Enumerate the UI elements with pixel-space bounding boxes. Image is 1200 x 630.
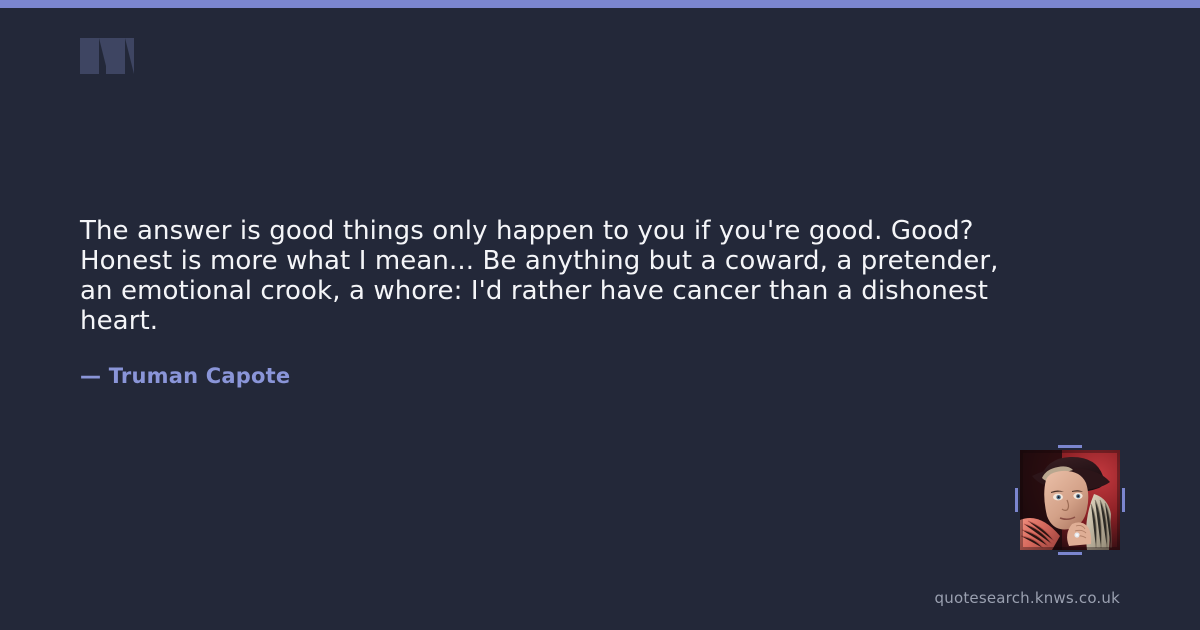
open-quote-stroke-right — [106, 38, 125, 74]
author-portrait — [1020, 450, 1120, 550]
site-watermark: quotesearch.knws.co.uk — [935, 589, 1120, 608]
open-quote-icon — [80, 22, 140, 82]
portrait-tick-right — [1122, 488, 1125, 512]
top-accent-bar — [0, 0, 1200, 8]
quote-body: The answer is good things only happen to… — [80, 216, 1010, 336]
portrait-tick-top — [1058, 445, 1082, 448]
portrait-tick-bottom — [1058, 552, 1082, 555]
quote-card: The answer is good things only happen to… — [0, 0, 1200, 630]
portrait-tick-left — [1015, 488, 1018, 512]
author-portrait-image — [1020, 450, 1120, 550]
open-quote-stroke-left — [80, 38, 99, 74]
quote-author: — Truman Capote — [80, 363, 290, 389]
quote-text: The answer is good things only happen to… — [80, 216, 1010, 336]
